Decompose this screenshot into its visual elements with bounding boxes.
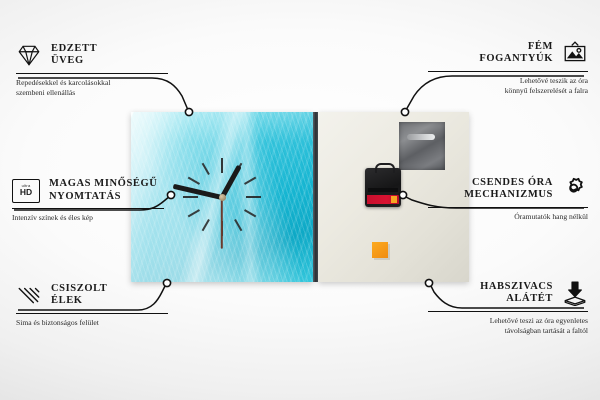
foam-pad-arrow-icon (562, 280, 588, 306)
feature-csiszolt-elek: CSISZOLT ÉLEK Sima és biztonságos felüle… (16, 282, 168, 328)
feature-divider (16, 313, 168, 314)
ultra-hd-icon: ultra HD (12, 179, 40, 203)
battery-label (367, 195, 399, 204)
ultra-hd-icon-large-text: HD (20, 188, 32, 197)
infographic-stage: EDZETT ÜVEG Repedésekkel és karcolásokka… (0, 0, 600, 400)
feature-title: MAGAS MINŐSÉGŰ NYOMTATÁS (49, 178, 157, 203)
feature-csendes-ora-mechanizmus: CSENDES ÓRA MECHANIZMUS Óramutatók hang … (428, 176, 588, 222)
feature-divider (428, 207, 588, 208)
product-photo (131, 112, 469, 282)
feature-description: Lehetővé teszi az óra egyenletes távolsá… (428, 316, 588, 335)
feature-description: Sima és biztonságos felület (16, 318, 168, 328)
feature-divider (428, 311, 588, 312)
mechanism-handle (375, 163, 395, 173)
metal-hanger-plate (399, 122, 445, 170)
feature-description: Óramutatók hang nélkül (428, 212, 588, 222)
feature-description: Intenzív színek és éles kép (12, 213, 164, 223)
foam-spacer-pad (372, 242, 388, 258)
feature-title: CSENDES ÓRA MECHANIZMUS (464, 177, 553, 202)
feature-edzett-uveg: EDZETT ÜVEG Repedésekkel és karcolásokka… (16, 42, 168, 98)
feature-title: EDZETT ÜVEG (51, 43, 97, 68)
feature-magas-minosegu-nyomtatas: ultra HD MAGAS MINŐSÉGŰ NYOMTATÁS Intenz… (12, 178, 164, 223)
clock-second-hand (221, 197, 223, 249)
polished-edges-icon (16, 282, 42, 308)
gear-icon (562, 176, 588, 202)
feature-fem-fogantyuk: FÉM FOGANTYÚK Lehetővé teszik az óra kön… (428, 40, 588, 96)
feature-habszivacs-alatet: HABSZIVACS ALÁTÉT Lehetővé teszi az óra … (428, 280, 588, 336)
clock-center-pin (219, 194, 226, 201)
feature-title: HABSZIVACS ALÁTÉT (480, 281, 553, 306)
mechanism-slot (368, 188, 398, 192)
quartz-clock-mechanism (365, 168, 401, 207)
picture-hanger-icon (562, 40, 588, 66)
feature-title: FÉM FOGANTYÚK (479, 41, 553, 66)
feature-divider (428, 71, 588, 72)
feature-description: Repedésekkel és karcolásokkal szembeni e… (16, 78, 168, 97)
feature-divider (12, 208, 164, 209)
diamond-icon (16, 42, 42, 68)
feature-title: CSISZOLT ÉLEK (51, 283, 107, 308)
feature-description: Lehetővé teszik az óra könnyű felszerelé… (428, 76, 588, 95)
feature-divider (16, 73, 168, 74)
